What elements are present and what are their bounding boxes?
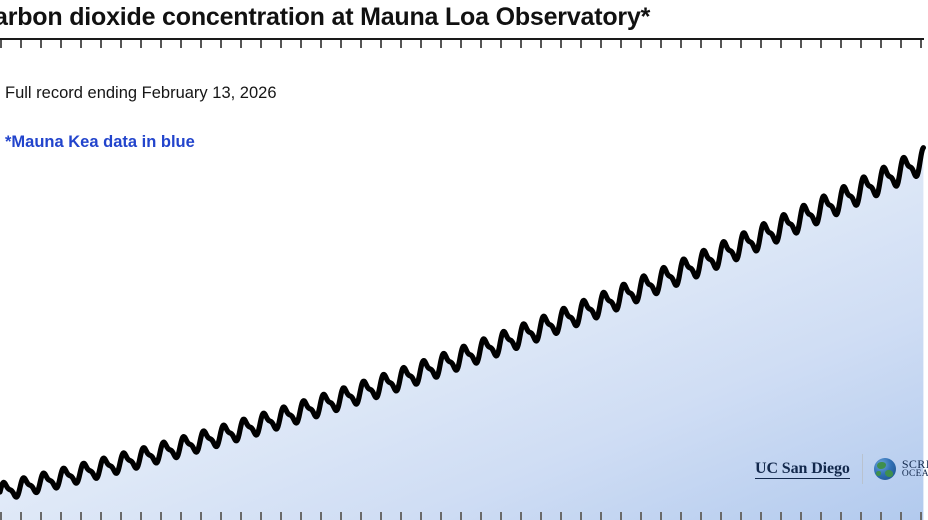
axis-tick-minor	[300, 512, 302, 520]
axis-tick-minor	[480, 512, 482, 520]
axis-tick-minor	[20, 512, 22, 520]
axis-tick-minor	[740, 512, 742, 520]
axis-tick-minor	[80, 512, 82, 520]
axis-tick-minor	[160, 512, 162, 520]
axis-tick-minor	[540, 512, 542, 520]
axis-tick-minor	[180, 512, 182, 520]
axis-tick-minor	[620, 512, 622, 520]
record-note: Full record ending February 13, 2026	[5, 84, 277, 103]
axis-tick-minor	[200, 512, 202, 520]
logo-divider	[862, 454, 863, 484]
axis-tick-minor	[840, 512, 842, 520]
axis-tick-minor	[100, 512, 102, 520]
axis-tick-minor	[500, 512, 502, 520]
axis-tick-minor	[140, 512, 142, 520]
scripps-wordmark: SCRIPPS OCEANOGRAPHY	[902, 459, 928, 480]
scripps-line2: OCEANOGRAPHY	[902, 469, 928, 480]
axis-tick-minor	[780, 512, 782, 520]
axis-tick-minor	[460, 512, 462, 520]
axis-tick-minor	[700, 512, 702, 520]
axis-tick-minor	[60, 512, 62, 520]
globe-icon	[874, 458, 896, 480]
axis-tick-minor	[900, 512, 902, 520]
uc-san-diego-logo: UC San Diego	[755, 460, 850, 479]
axis-tick-minor	[920, 512, 922, 520]
axis-tick-minor	[720, 512, 722, 520]
axis-tick-minor	[280, 512, 282, 520]
axis-tick-minor	[640, 512, 642, 520]
axis-tick-minor	[360, 512, 362, 520]
axis-tick-minor	[580, 512, 582, 520]
axis-tick-minor	[600, 512, 602, 520]
axis-tick-minor	[560, 512, 562, 520]
page-title: arbon dioxide concentration at Mauna Loa…	[0, 0, 928, 34]
axis-tick-minor	[380, 512, 382, 520]
axis-tick-minor	[340, 512, 342, 520]
axis-tick-minor	[120, 512, 122, 520]
axis-tick-minor	[240, 512, 242, 520]
axis-tick-minor	[0, 512, 2, 520]
axis-tick-minor	[680, 512, 682, 520]
axis-tick-minor	[400, 512, 402, 520]
axis-tick-minor	[40, 512, 42, 520]
axis-tick-minor	[520, 512, 522, 520]
axis-tick-minor	[320, 512, 322, 520]
axis-tick-minor	[220, 512, 222, 520]
axis-tick-minor	[760, 512, 762, 520]
axis-tick-minor	[660, 512, 662, 520]
axis-tick-minor	[860, 512, 862, 520]
mauna-kea-note: *Mauna Kea data in blue	[5, 133, 195, 152]
bottom-axis	[0, 500, 928, 520]
curve-svg	[0, 40, 928, 520]
scripps-line1: SCRIPPS	[902, 459, 928, 470]
axis-tick-minor	[880, 512, 882, 520]
logo-group: UC San Diego SCRIPPS OCEANOGRAPHY	[755, 452, 928, 486]
axis-tick-minor	[800, 512, 802, 520]
scripps-logo: SCRIPPS OCEANOGRAPHY	[874, 458, 928, 480]
axis-tick-minor	[260, 512, 262, 520]
axis-tick-minor	[820, 512, 822, 520]
chart-panel: arbon dioxide concentration at Mauna Loa…	[0, 0, 928, 520]
keeling-curve-plot	[0, 40, 928, 520]
axis-tick-minor	[440, 512, 442, 520]
axis-tick-minor	[420, 512, 422, 520]
